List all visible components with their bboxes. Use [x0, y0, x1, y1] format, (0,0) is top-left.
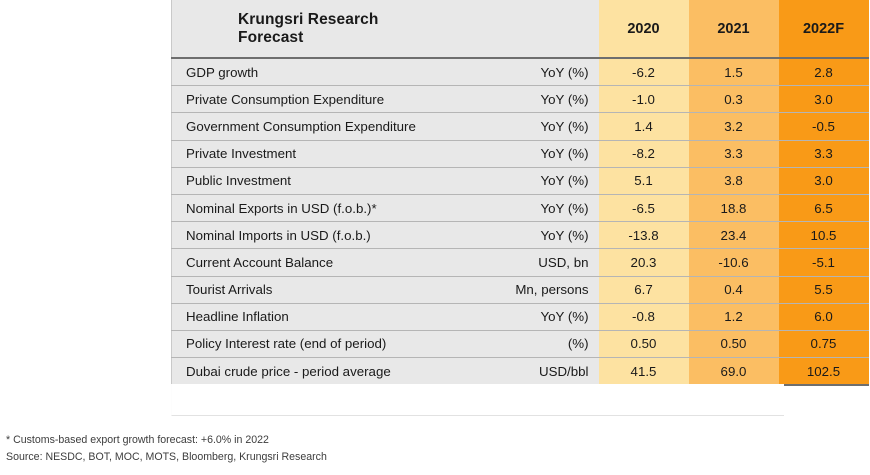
- row-label: Nominal Imports in USD (f.o.b.): [172, 222, 442, 249]
- cell-value-2022f: 3.3: [779, 140, 869, 167]
- cell-value-2020: -8.2: [599, 140, 689, 167]
- row-unit: YoY (%): [442, 303, 599, 330]
- header-unit-spacer: [442, 0, 599, 58]
- row-label: Government Consumption Expenditure: [172, 113, 442, 140]
- cell-value-2020: 6.7: [599, 276, 689, 303]
- row-unit: YoY (%): [442, 194, 599, 221]
- cell-value-2022f: 0.75: [779, 330, 869, 357]
- footnote-customs-export: * Customs-based export growth forecast: …: [6, 432, 526, 449]
- row-label: Current Account Balance: [172, 249, 442, 276]
- row-label: Tourist Arrivals: [172, 276, 442, 303]
- table-row: Private InvestmentYoY (%)-8.23.33.3: [172, 140, 869, 167]
- cell-value-2022f: 3.0: [779, 167, 869, 194]
- row-label: Nominal Exports in USD (f.o.b.)*: [172, 194, 442, 221]
- cell-value-2020: -6.5: [599, 194, 689, 221]
- cell-value-2020: 5.1: [599, 167, 689, 194]
- row-label: Private Consumption Expenditure: [172, 86, 442, 113]
- row-unit: Mn, persons: [442, 276, 599, 303]
- table-row: Policy Interest rate (end of period)(%)0…: [172, 330, 869, 357]
- cell-value-2021: 23.4: [689, 222, 779, 249]
- row-unit: YoY (%): [442, 58, 599, 86]
- table-row: Government Consumption ExpenditureYoY (%…: [172, 113, 869, 140]
- cell-value-2020: 0.50: [599, 330, 689, 357]
- table-row: Tourist ArrivalsMn, persons6.70.45.5: [172, 276, 869, 303]
- cell-value-2021: 0.4: [689, 276, 779, 303]
- cell-value-2022f: -0.5: [779, 113, 869, 140]
- table-row: Private Consumption ExpenditureYoY (%)-1…: [172, 86, 869, 113]
- row-label: Headline Inflation: [172, 303, 442, 330]
- cell-value-2022f: 6.5: [779, 194, 869, 221]
- row-unit: YoY (%): [442, 113, 599, 140]
- row-unit: USD/bbl: [442, 358, 599, 386]
- cell-value-2021: 3.2: [689, 113, 779, 140]
- cell-value-2021: 3.3: [689, 140, 779, 167]
- cell-value-2021: 0.50: [689, 330, 779, 357]
- cell-value-2020: -6.2: [599, 58, 689, 86]
- row-label: Private Investment: [172, 140, 442, 167]
- cell-value-2022f: 2.8: [779, 58, 869, 86]
- row-label: Public Investment: [172, 167, 442, 194]
- table-row: GDP growthYoY (%)-6.21.52.8: [172, 58, 869, 86]
- notes-block: * Customs-based export growth forecast: …: [6, 432, 526, 466]
- cell-value-2021: 18.8: [689, 194, 779, 221]
- cell-value-2022f: 10.5: [779, 222, 869, 249]
- cell-value-2022f: 3.0: [779, 86, 869, 113]
- cell-value-2020: -13.8: [599, 222, 689, 249]
- cell-value-2020: -1.0: [599, 86, 689, 113]
- table-body: GDP growthYoY (%)-6.21.52.8Private Consu…: [172, 58, 869, 385]
- cell-value-2020: 20.3: [599, 249, 689, 276]
- table-row: Nominal Imports in USD (f.o.b.)YoY (%)-1…: [172, 222, 869, 249]
- table-title: Krungsri Research Forecast: [172, 0, 442, 58]
- cell-value-2021: 1.5: [689, 58, 779, 86]
- cell-value-2021: 69.0: [689, 358, 779, 386]
- cell-value-2021: 1.2: [689, 303, 779, 330]
- cell-value-2021: 3.8: [689, 167, 779, 194]
- row-unit: YoY (%): [442, 140, 599, 167]
- table-footer-strip: [171, 384, 784, 416]
- table-row: Public InvestmentYoY (%)5.13.83.0: [172, 167, 869, 194]
- row-unit: YoY (%): [442, 222, 599, 249]
- row-unit: USD, bn: [442, 249, 599, 276]
- cell-value-2022f: -5.1: [779, 249, 869, 276]
- table-row: Nominal Exports in USD (f.o.b.)*YoY (%)-…: [172, 194, 869, 221]
- table-row: Headline InflationYoY (%)-0.81.26.0: [172, 303, 869, 330]
- table-header: Krungsri Research Forecast 2020 2021 202…: [172, 0, 869, 58]
- row-label: Dubai crude price - period average: [172, 358, 442, 386]
- cell-value-2021: -10.6: [689, 249, 779, 276]
- cell-value-2022f: 6.0: [779, 303, 869, 330]
- table-row: Current Account BalanceUSD, bn20.3-10.6-…: [172, 249, 869, 276]
- row-unit: YoY (%): [442, 167, 599, 194]
- cell-value-2022f: 102.5: [779, 358, 869, 386]
- cell-value-2020: 41.5: [599, 358, 689, 386]
- column-header-2021: 2021: [689, 0, 779, 58]
- krungsri-research-forecast-table: Krungsri Research Forecast 2020 2021 202…: [171, 0, 869, 386]
- row-unit: (%): [442, 330, 599, 357]
- row-unit: YoY (%): [442, 86, 599, 113]
- forecast-table-container: Krungsri Research Forecast 2020 2021 202…: [171, 0, 868, 386]
- cell-value-2022f: 5.5: [779, 276, 869, 303]
- cell-value-2020: -0.8: [599, 303, 689, 330]
- column-header-2022f: 2022F: [779, 0, 869, 58]
- row-label: GDP growth: [172, 58, 442, 86]
- column-header-2020: 2020: [599, 0, 689, 58]
- table-row: Dubai crude price - period averageUSD/bb…: [172, 358, 869, 386]
- row-label: Policy Interest rate (end of period): [172, 330, 442, 357]
- source-line: Source: NESDC, BOT, MOC, MOTS, Bloomberg…: [6, 449, 526, 466]
- header-row: Krungsri Research Forecast 2020 2021 202…: [172, 0, 869, 58]
- cell-value-2020: 1.4: [599, 113, 689, 140]
- cell-value-2021: 0.3: [689, 86, 779, 113]
